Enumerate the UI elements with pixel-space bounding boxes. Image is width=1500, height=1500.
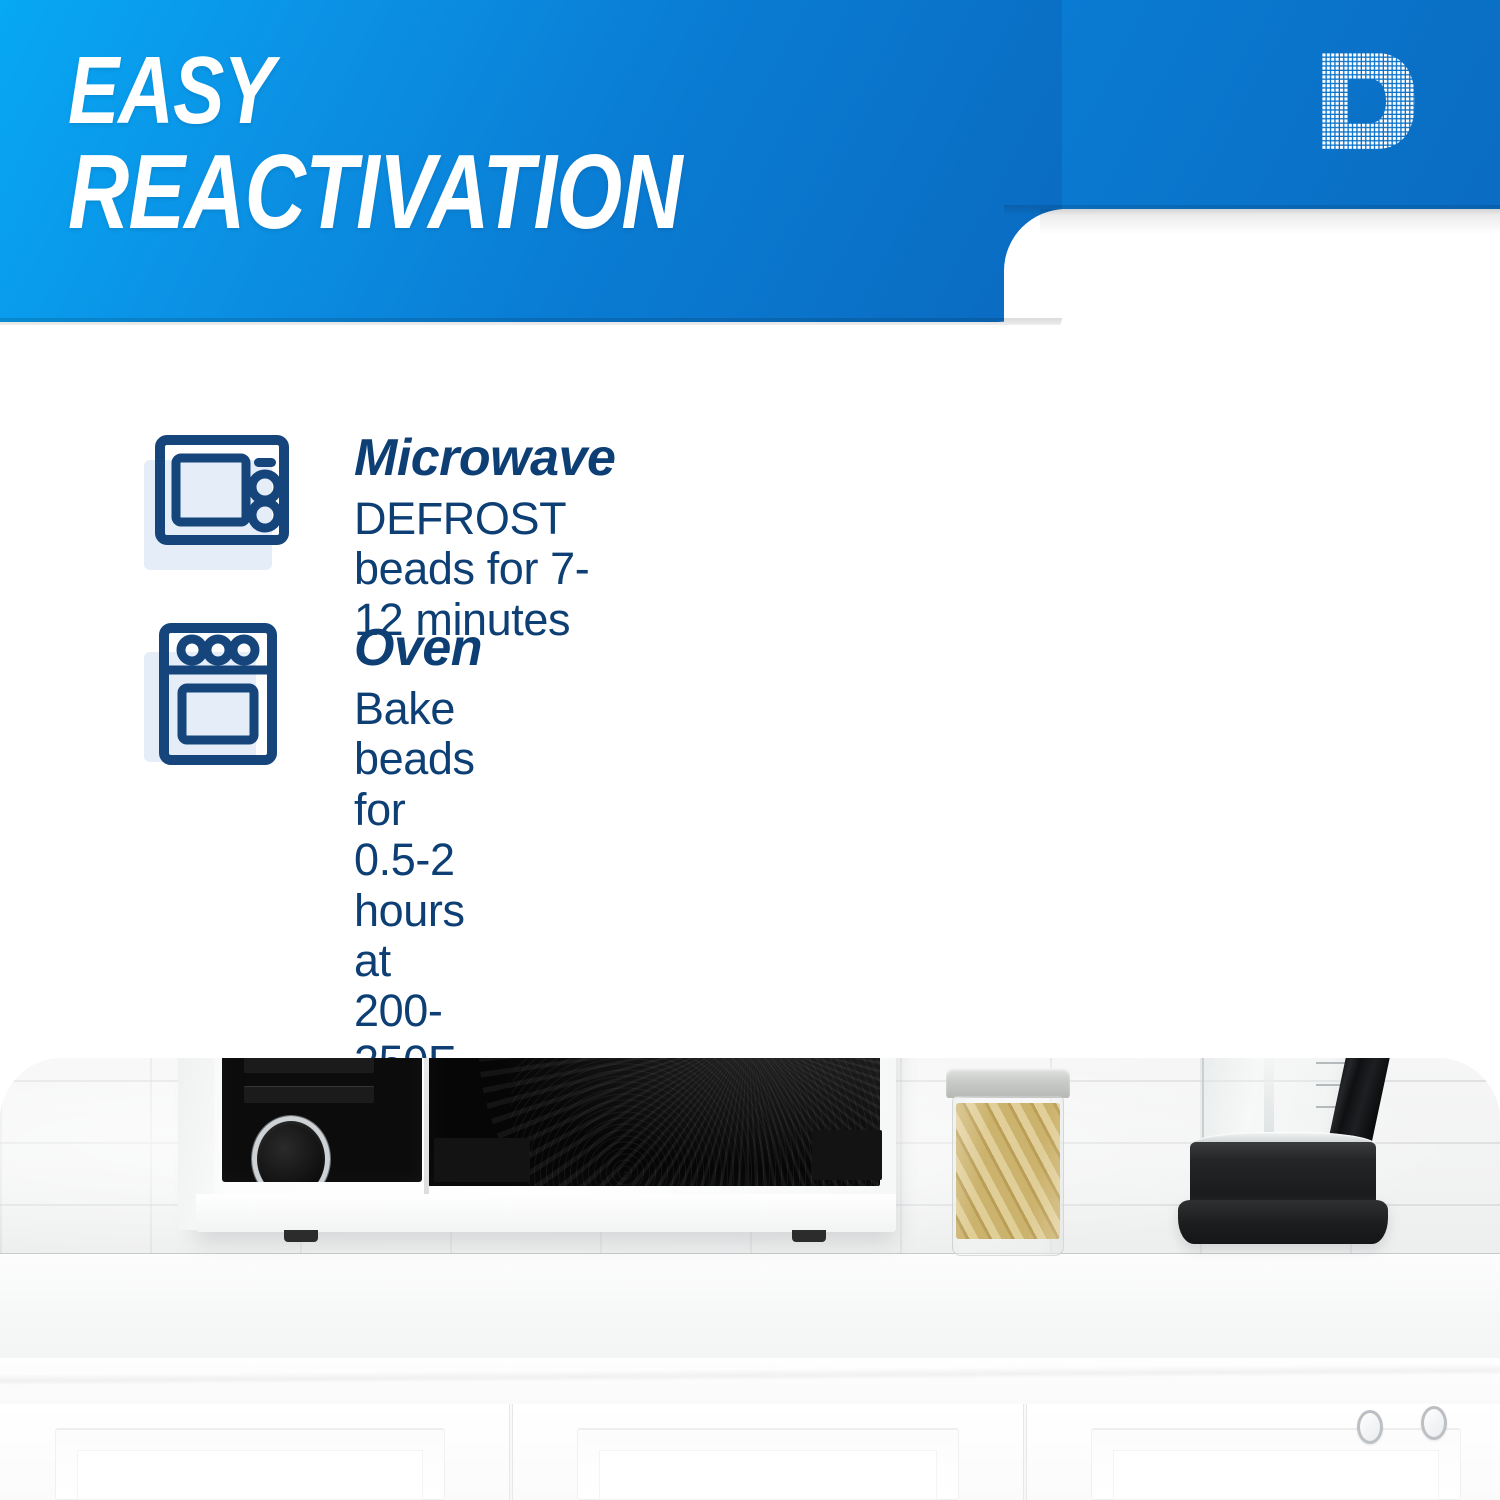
pasta-jar bbox=[944, 1068, 1072, 1256]
cabinet-inner-panel bbox=[77, 1450, 423, 1500]
microwave-icon bbox=[140, 432, 310, 582]
oven-icon bbox=[140, 622, 310, 772]
page-title-line-2: REACTIVATION bbox=[68, 143, 682, 242]
page-title-line-1: EASY bbox=[68, 46, 682, 135]
microwave-foot bbox=[792, 1230, 826, 1242]
instruction-step-oven-text: Oven Bake beads for 0.5-2 hours at 200-2… bbox=[354, 622, 482, 1087]
microwave-button[interactable] bbox=[244, 1058, 374, 1072]
microwave-door-handle[interactable] bbox=[812, 1130, 882, 1180]
instruction-title: Oven bbox=[354, 622, 482, 674]
cabinet-knob[interactable] bbox=[1421, 1406, 1447, 1440]
header-step-notch bbox=[1004, 209, 1124, 325]
microwave-foot bbox=[284, 1230, 318, 1242]
white-cabinets bbox=[0, 1358, 1500, 1500]
microwave-door-lower-block bbox=[434, 1138, 530, 1182]
glass-electric-kettle bbox=[1168, 1058, 1398, 1256]
jar-lid bbox=[946, 1068, 1070, 1098]
kettle-power-base bbox=[1178, 1200, 1388, 1244]
page-title: EASY REACTIVATION bbox=[68, 46, 835, 242]
cabinet-inner-panel bbox=[1113, 1450, 1439, 1500]
jar-glass bbox=[952, 1096, 1064, 1256]
cabinet-door bbox=[512, 1404, 1024, 1500]
jar-glass-reflection bbox=[953, 1097, 1063, 1255]
microwave-button[interactable] bbox=[244, 1086, 374, 1102]
cabinet-inner-panel bbox=[599, 1450, 937, 1500]
microwave-door-seam bbox=[424, 1058, 429, 1196]
header-banner: EASY REACTIVATION bbox=[0, 0, 1500, 325]
cabinet-door bbox=[0, 1404, 510, 1500]
kitchen-counter-photo: 88:88 bbox=[0, 1058, 1500, 1500]
microwave-base bbox=[196, 1194, 896, 1232]
white-microwave-oven: 88:88 bbox=[178, 1058, 918, 1256]
dotted-letter-d-logo bbox=[1318, 49, 1418, 153]
instruction-description: Bake beads for 0.5-2 hours at 200-250F. bbox=[354, 684, 482, 1087]
microwave-dial-knob[interactable] bbox=[252, 1116, 330, 1182]
cabinet-knob[interactable] bbox=[1357, 1410, 1383, 1444]
microwave-front: 88:88 bbox=[212, 1058, 880, 1190]
instruction-step-microwave-text: Microwave DEFROST beads for 7-12 minutes bbox=[354, 432, 615, 645]
microwave-control-panel[interactable]: 88:88 bbox=[222, 1058, 422, 1182]
cabinet-rail bbox=[0, 1363, 1500, 1381]
instruction-title: Microwave bbox=[354, 432, 615, 484]
cabinet-door bbox=[1026, 1404, 1500, 1500]
